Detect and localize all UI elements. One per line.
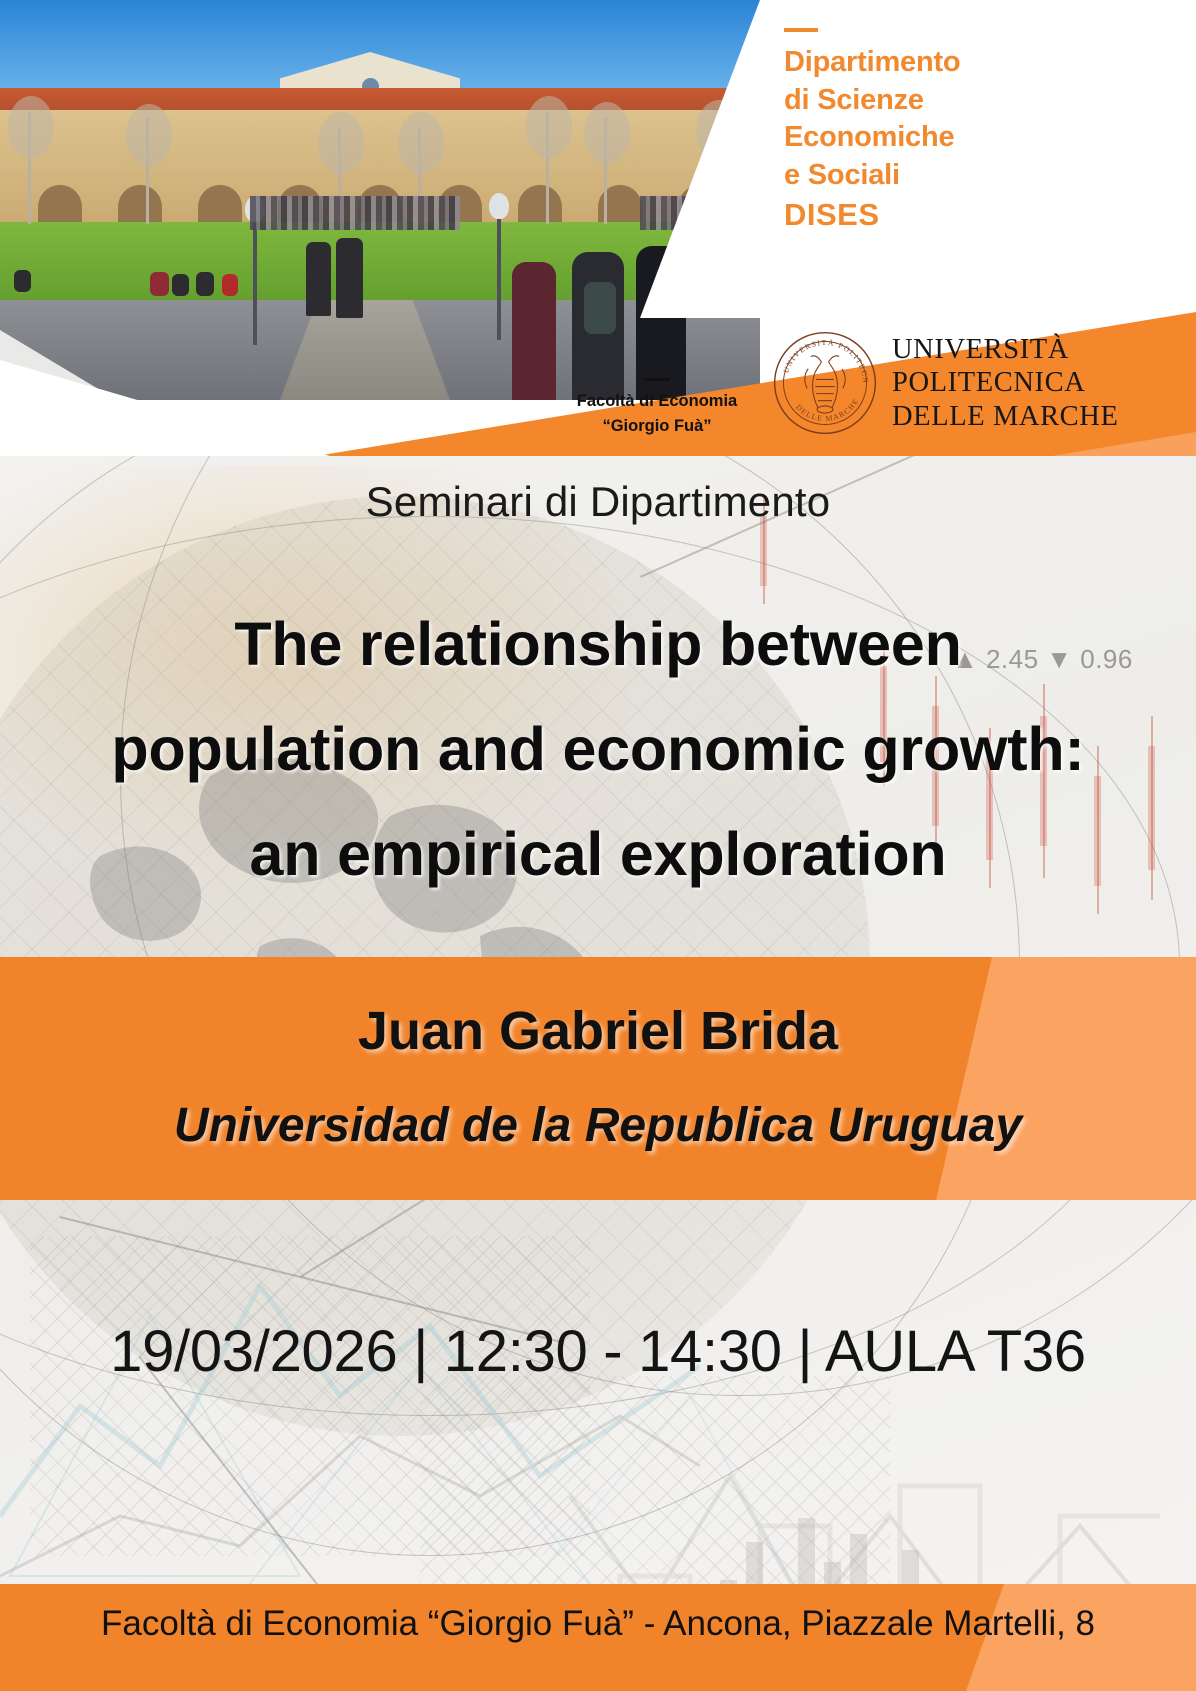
seminar-title-line-1: The relationship between	[30, 592, 1166, 697]
section-kicker: Seminari di Dipartimento	[0, 478, 1196, 526]
university-name-line-1: UNIVERSITÀ	[892, 333, 1118, 366]
univpm-seal-icon: UNIVERSITÀ POLITECNICA DELLE MARCHE	[772, 330, 878, 436]
seminar-title: The relationship between population and …	[30, 592, 1166, 907]
speaker-band	[0, 957, 1196, 1200]
event-when-line: 19/03/2026 | 12:30 - 14:30 | AULA T36	[0, 1318, 1196, 1385]
department-line-4: e Sociali	[784, 157, 1084, 195]
university-name-line-2: POLITECNICA	[892, 366, 1118, 399]
department-line-2: di Scienze	[784, 82, 1084, 120]
speaker-name: Juan Gabriel Brida	[0, 1000, 1196, 1062]
department-rule	[784, 28, 818, 32]
speaker-band-light-wedge	[936, 957, 1196, 1200]
university-logo: UNIVERSITÀ POLITECNICA DELLE MARCHE UNIV…	[772, 330, 1118, 436]
seminar-poster: Dipartimento di Scienze Economiche e Soc…	[0, 0, 1196, 1691]
svg-text:UNIVERSITÀ POLITECNICA: UNIVERSITÀ POLITECNICA	[772, 330, 870, 384]
stat-curve	[0, 1216, 700, 1636]
campus-photo	[0, 0, 760, 400]
faculty-line-1: Facoltà di Economia	[527, 389, 787, 414]
footer-venue: Facoltà di Economia “Giorgio Fuà” - Anco…	[0, 1604, 1196, 1644]
department-acronym: DISES	[784, 195, 1084, 235]
department-line-3: Economiche	[784, 119, 1084, 157]
university-name-line-3: DELLE MARCHE	[892, 400, 1118, 433]
faculty-line-2: “Giorgio Fuà”	[527, 414, 787, 439]
candlestick	[760, 516, 767, 586]
seminar-title-line-2: population and economic growth:	[30, 697, 1166, 802]
faculty-block: Facoltà di Economia “Giorgio Fuà”	[527, 378, 787, 439]
department-line-1: Dipartimento	[784, 44, 1084, 82]
faculty-rule	[644, 378, 670, 381]
speaker-affiliation: Universidad de la Republica Uruguay	[0, 1098, 1196, 1153]
poster-header: Dipartimento di Scienze Economiche e Soc…	[0, 0, 1196, 456]
department-block: Dipartimento di Scienze Economiche e Soc…	[784, 28, 1084, 235]
seminar-title-line-3: an empirical exploration	[30, 802, 1166, 907]
university-name: UNIVERSITÀ POLITECNICA DELLE MARCHE	[892, 333, 1118, 433]
